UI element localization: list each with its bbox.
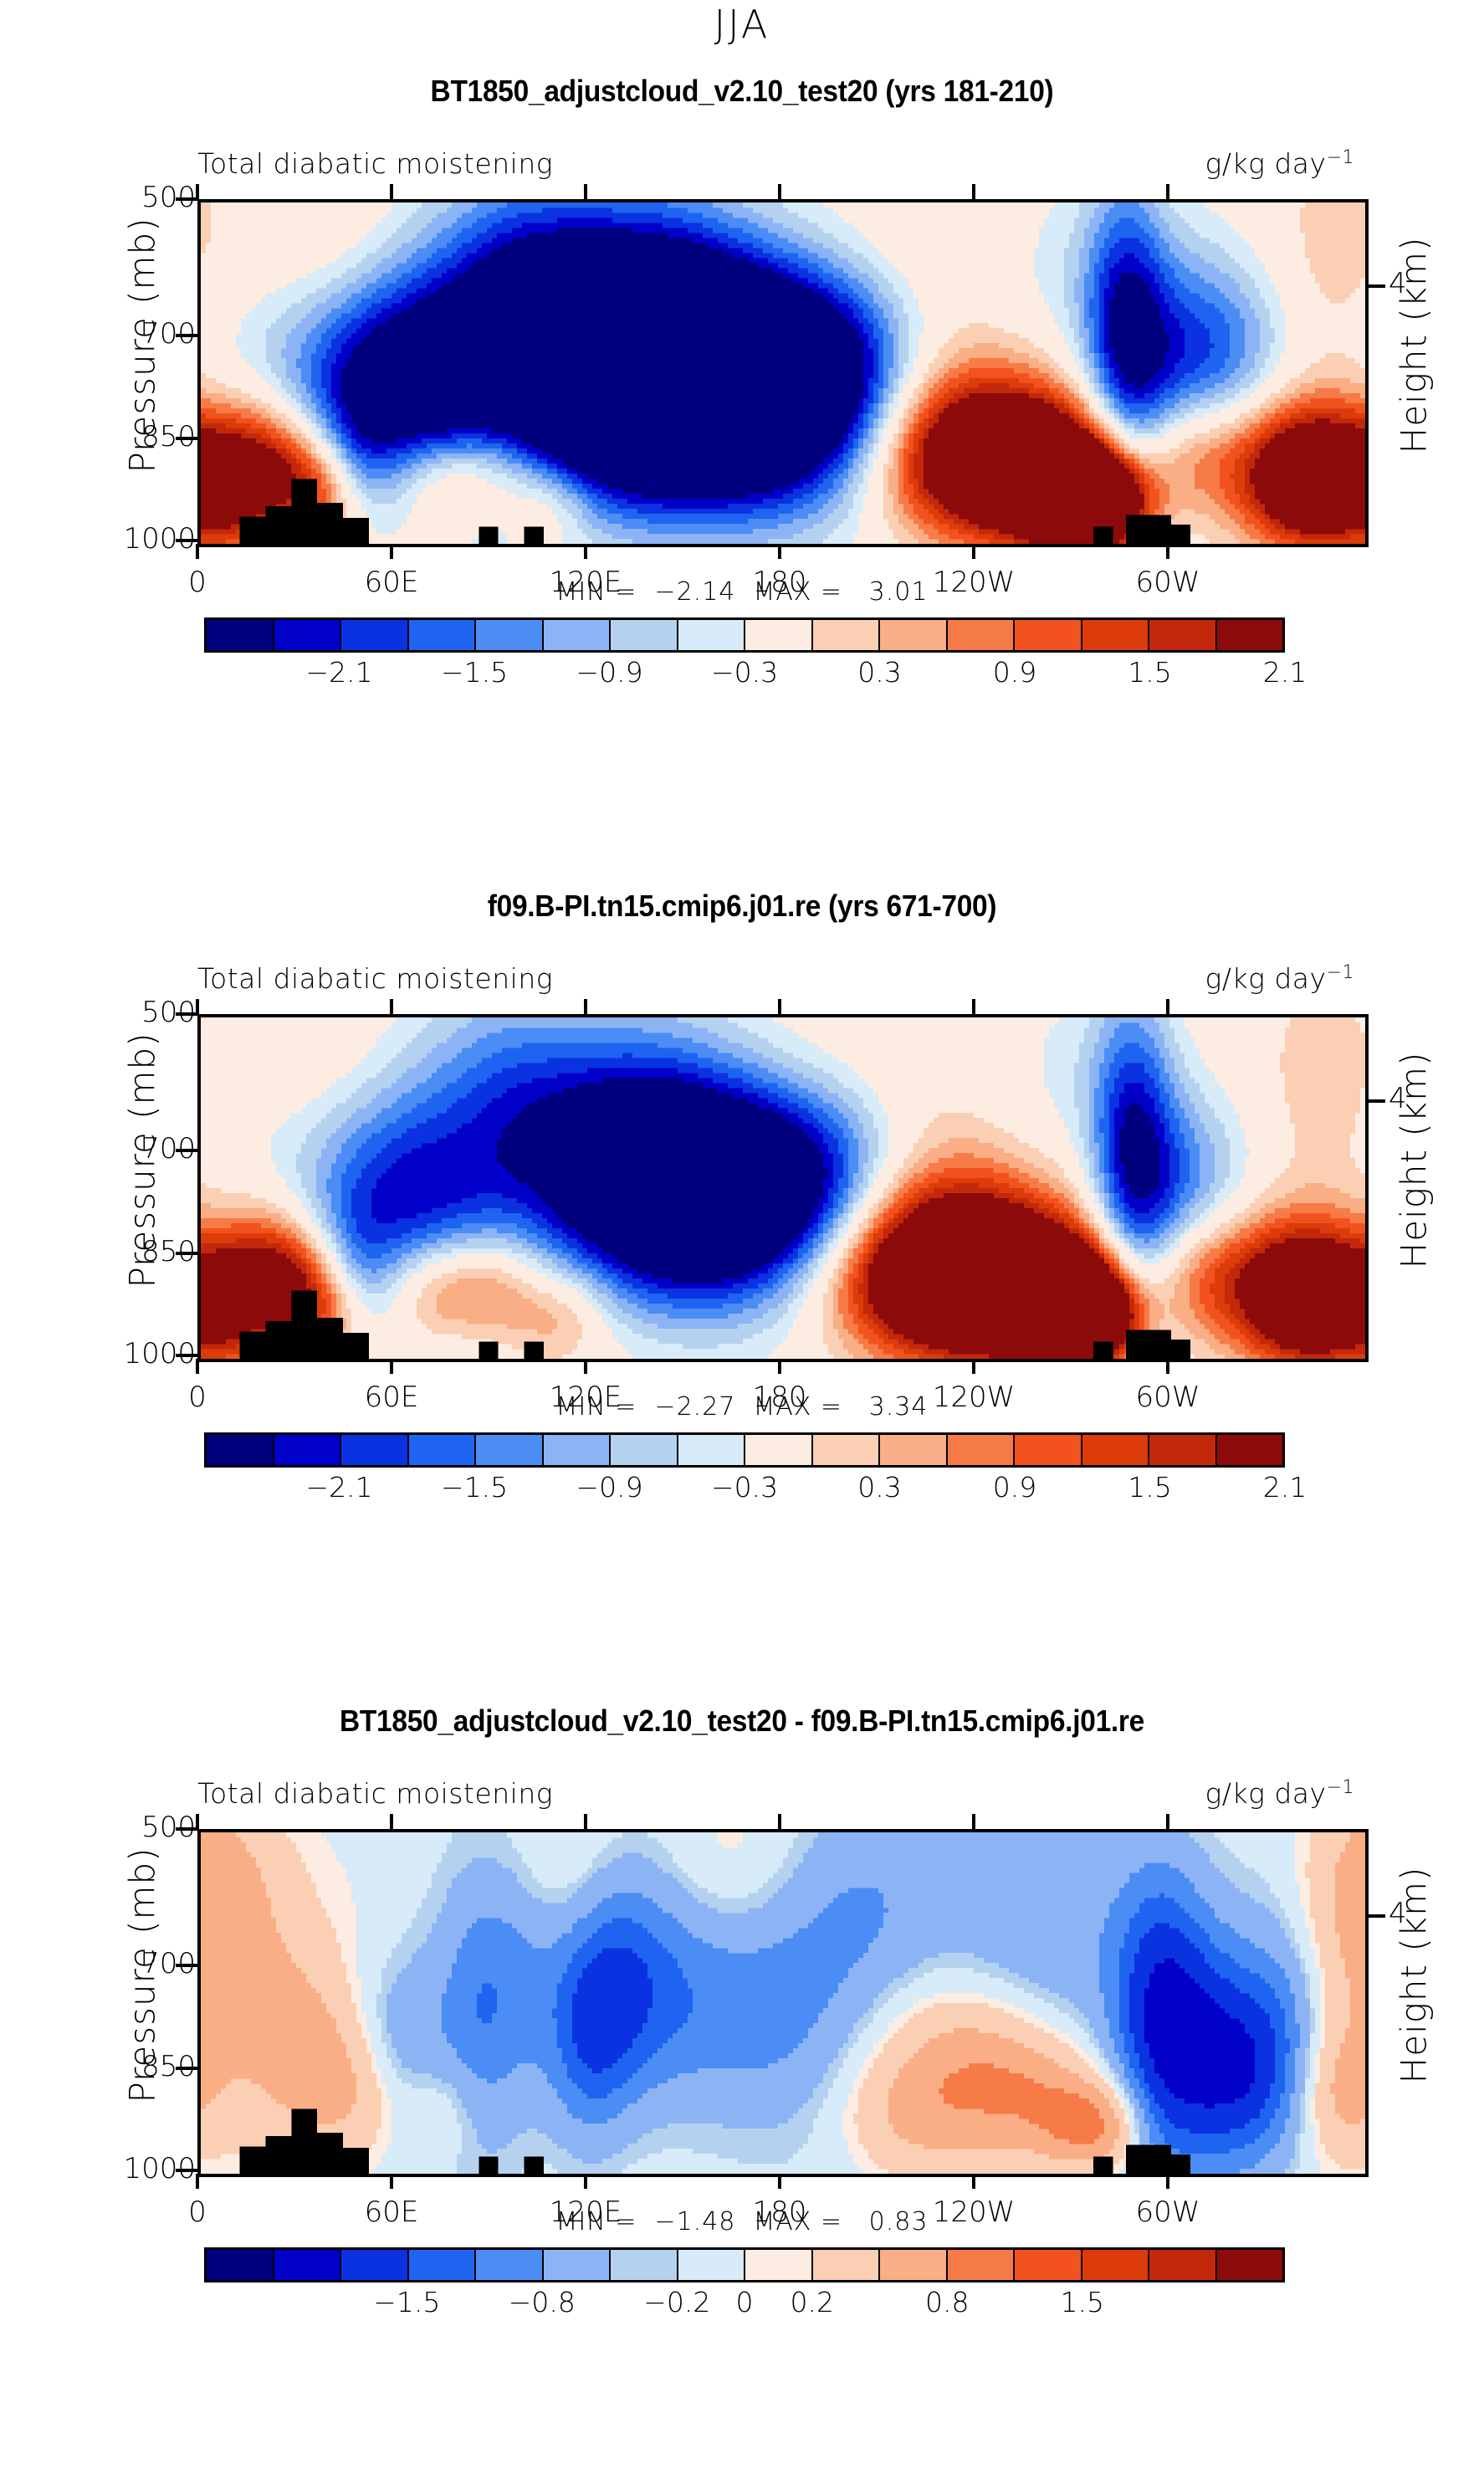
panel-title: BT1850_adjustcloud_v2.10_test20 - f09.B-… <box>52 1704 1432 1739</box>
colorbar-cell <box>207 620 274 650</box>
colorbar-cell <box>1217 2250 1283 2280</box>
colorbar-cell <box>341 2250 409 2280</box>
x-tick-mark-top <box>390 999 393 1014</box>
colorbar-cell <box>611 620 678 650</box>
colorbar: −1.5−0.8−0.200.20.81.5 <box>204 2247 1285 2321</box>
y-axis-label-right: Height (km) <box>1394 153 1435 538</box>
colorbar-cell <box>274 2250 342 2280</box>
minmax-label: MIN = −2.27 MAX = 3.34 <box>0 1392 1484 1422</box>
y-tick-mark <box>176 1012 197 1016</box>
colorbar-cell <box>745 2250 813 2280</box>
colorbar-cell <box>1015 620 1082 650</box>
y-tick-mark <box>176 539 197 542</box>
colorbar-cell <box>409 620 477 650</box>
x-tick-mark-top <box>972 184 975 199</box>
colorbar-cell <box>611 1435 678 1465</box>
y-tick-mark <box>176 1964 197 1967</box>
panel-title: f09.B-PI.tn15.cmip6.j01.re (yrs 671-700) <box>52 889 1432 924</box>
colorbar-cell <box>813 1435 881 1465</box>
colorbar-cell <box>341 1435 409 1465</box>
colorbar-cell <box>341 620 409 650</box>
colorbar-tick-label: −0.9 <box>576 656 642 689</box>
plot-area <box>197 1829 1369 2177</box>
minmax-label: MIN = −1.48 MAX = 0.83 <box>0 2207 1484 2236</box>
colorbar-cell <box>1082 620 1150 650</box>
x-tick-mark <box>390 1359 393 1374</box>
units-label: g/kg day−1 <box>1205 1777 1354 1810</box>
colorbar-labels: −2.1−1.5−0.9−0.30.30.91.52.1 <box>204 653 1285 691</box>
y-tick-label: 700 <box>28 317 196 351</box>
x-tick-mark <box>778 1359 781 1374</box>
colorbar-tick-label: −1.5 <box>373 2286 440 2318</box>
right-tick-mark <box>1365 1099 1385 1103</box>
x-tick-mark <box>196 2174 199 2189</box>
colorbar-cell <box>1149 1435 1217 1465</box>
colorbar-cell <box>207 1435 274 1465</box>
y-axis-label-right: Height (km) <box>1394 1783 1435 2168</box>
colorbar-cell <box>611 2250 678 2280</box>
colorbar-cell <box>544 2250 612 2280</box>
colorbar-tick-label: 0.9 <box>993 1471 1036 1504</box>
colorbar-strip <box>204 2247 1285 2282</box>
colorbar-tick-label: −2.1 <box>305 1471 372 1504</box>
x-tick-mark <box>1166 1359 1169 1374</box>
right-tick-label: 4 <box>1389 1897 1407 1930</box>
y-tick-label: 700 <box>28 1132 196 1166</box>
x-tick-mark-top <box>778 184 781 199</box>
colorbar-cell <box>1217 620 1283 650</box>
x-tick-mark <box>972 2174 975 2189</box>
colorbar-cell <box>678 2250 746 2280</box>
colorbar-tick-label: 1.5 <box>1061 2286 1104 2318</box>
colorbar-cell <box>813 620 881 650</box>
contour-field <box>201 1832 1365 2174</box>
colorbar-cell <box>274 1435 342 1465</box>
y-tick-label: 850 <box>28 1235 196 1268</box>
colorbar-cell <box>544 620 612 650</box>
units-label: g/kg day−1 <box>1205 147 1354 180</box>
x-tick-mark-top <box>778 1814 781 1829</box>
colorbar-cell <box>409 1435 477 1465</box>
x-tick-mark-top <box>390 184 393 199</box>
panel-title: BT1850_adjustcloud_v2.10_test20 (yrs 181… <box>52 74 1432 109</box>
colorbar-cell <box>880 620 948 650</box>
x-tick-mark <box>1166 544 1169 559</box>
colorbar-cell <box>880 1435 948 1465</box>
y-tick-mark <box>176 1827 197 1831</box>
x-tick-mark <box>390 544 393 559</box>
x-tick-mark-top <box>1166 999 1169 1014</box>
y-tick-label: 850 <box>28 420 196 453</box>
colorbar-cell <box>813 2250 881 2280</box>
x-tick-mark <box>972 1359 975 1374</box>
colorbar-cell <box>274 620 342 650</box>
colorbar-tick-label: 0.9 <box>993 656 1036 689</box>
colorbar-tick-label: 2.1 <box>1263 656 1307 689</box>
colorbar-tick-label: −2.1 <box>305 656 372 689</box>
colorbar: −2.1−1.5−0.9−0.30.30.91.52.1 <box>204 617 1285 691</box>
colorbar-labels: −1.5−0.8−0.200.20.81.5 <box>204 2282 1285 2321</box>
x-tick-mark-top <box>196 1814 199 1829</box>
contour-field <box>201 202 1365 544</box>
y-tick-mark <box>176 334 197 337</box>
x-tick-mark-top <box>390 1814 393 1829</box>
colorbar-cell <box>948 2250 1016 2280</box>
colorbar-tick-label: −0.9 <box>576 1471 642 1504</box>
x-tick-mark <box>584 1359 587 1374</box>
colorbar-cell <box>678 1435 746 1465</box>
colorbar-tick-label: −0.3 <box>711 1471 778 1504</box>
y-tick-label: 700 <box>28 1947 196 1980</box>
y-tick-mark <box>176 1149 197 1152</box>
y-tick-mark <box>176 197 197 201</box>
plot-area <box>197 199 1369 547</box>
x-tick-mark <box>1166 2174 1169 2189</box>
contour-field <box>201 1017 1365 1359</box>
field-label: Total diabatic moistening <box>197 962 553 995</box>
x-tick-mark-top <box>584 1814 587 1829</box>
right-tick-mark <box>1365 1914 1385 1918</box>
colorbar-cell <box>745 1435 813 1465</box>
x-tick-mark-top <box>972 1814 975 1829</box>
colorbar-cell <box>207 2250 274 2280</box>
colorbar-cell <box>409 2250 477 2280</box>
y-tick-label: 500 <box>28 996 196 1029</box>
colorbar-cell <box>1082 2250 1150 2280</box>
season-title: JJA <box>0 2 1484 47</box>
colorbar-cell <box>476 2250 544 2280</box>
colorbar-tick-label: −1.5 <box>441 656 508 689</box>
colorbar-cell <box>1015 1435 1082 1465</box>
colorbar-cell <box>1082 1435 1150 1465</box>
x-tick-mark <box>390 2174 393 2189</box>
plot-area <box>197 1014 1369 1362</box>
x-tick-mark <box>972 544 975 559</box>
x-tick-mark-top <box>196 184 199 199</box>
y-tick-label: 500 <box>28 181 196 214</box>
right-tick-mark <box>1365 284 1385 288</box>
x-tick-mark <box>778 544 781 559</box>
y-tick-mark <box>176 2169 197 2172</box>
colorbar-cell <box>1149 2250 1217 2280</box>
y-tick-mark <box>176 1252 197 1255</box>
x-tick-mark <box>778 2174 781 2189</box>
x-tick-mark-top <box>972 999 975 1014</box>
colorbar-tick-label: 1.5 <box>1128 656 1171 689</box>
x-tick-mark-top <box>584 999 587 1014</box>
colorbar-tick-label: −0.8 <box>509 2286 576 2318</box>
y-tick-mark <box>176 1354 197 1357</box>
x-tick-mark <box>584 2174 587 2189</box>
colorbar-cell <box>745 620 813 650</box>
colorbar-cell <box>1217 1435 1283 1465</box>
colorbar-cell <box>948 1435 1016 1465</box>
y-tick-label: 1000 <box>28 2152 196 2185</box>
colorbar-strip <box>204 1432 1285 1468</box>
y-tick-label: 1000 <box>28 1337 196 1371</box>
field-label: Total diabatic moistening <box>197 147 553 180</box>
colorbar-strip <box>204 617 1285 653</box>
colorbar-tick-label: 1.5 <box>1128 1471 1171 1504</box>
x-tick-mark-top <box>584 184 587 199</box>
colorbar-cell <box>948 620 1016 650</box>
colorbar-cell <box>1015 2250 1082 2280</box>
colorbar-tick-label: 0 <box>736 2286 754 2318</box>
colorbar-tick-label: 0.3 <box>857 656 901 689</box>
colorbar-cell <box>476 1435 544 1465</box>
colorbar-labels: −2.1−1.5−0.9−0.30.30.91.52.1 <box>204 1468 1285 1506</box>
x-tick-mark-top <box>1166 184 1169 199</box>
colorbar-tick-label: −0.2 <box>643 2286 710 2318</box>
x-tick-mark-top <box>196 999 199 1014</box>
x-tick-mark <box>584 544 587 559</box>
x-tick-mark-top <box>778 999 781 1014</box>
y-tick-mark <box>176 437 197 440</box>
x-tick-mark <box>196 1359 199 1374</box>
units-label: g/kg day−1 <box>1205 962 1354 995</box>
y-axis-label-right: Height (km) <box>1394 968 1435 1353</box>
colorbar-tick-label: 0.3 <box>857 1471 901 1504</box>
colorbar-tick-label: −1.5 <box>441 1471 508 1504</box>
x-tick-mark <box>196 544 199 559</box>
x-tick-mark-top <box>1166 1814 1169 1829</box>
colorbar-tick-label: −0.3 <box>711 656 778 689</box>
colorbar-tick-label: 0.8 <box>925 2286 969 2318</box>
right-tick-label: 4 <box>1389 1082 1407 1115</box>
right-tick-label: 4 <box>1389 267 1407 300</box>
y-tick-mark <box>176 2067 197 2070</box>
y-tick-label: 1000 <box>28 522 196 556</box>
colorbar-cell <box>544 1435 612 1465</box>
colorbar-tick-label: 0.2 <box>791 2286 834 2318</box>
y-tick-label: 500 <box>28 1811 196 1844</box>
minmax-label: MIN = −2.14 MAX = 3.01 <box>0 577 1484 607</box>
colorbar-tick-label: 2.1 <box>1263 1471 1307 1504</box>
colorbar-cell <box>1149 620 1217 650</box>
colorbar-cell <box>880 2250 948 2280</box>
colorbar-cell <box>476 620 544 650</box>
colorbar: −2.1−1.5−0.9−0.30.30.91.52.1 <box>204 1432 1285 1506</box>
colorbar-cell <box>678 620 746 650</box>
field-label: Total diabatic moistening <box>197 1777 553 1810</box>
y-tick-label: 850 <box>28 2050 196 2083</box>
